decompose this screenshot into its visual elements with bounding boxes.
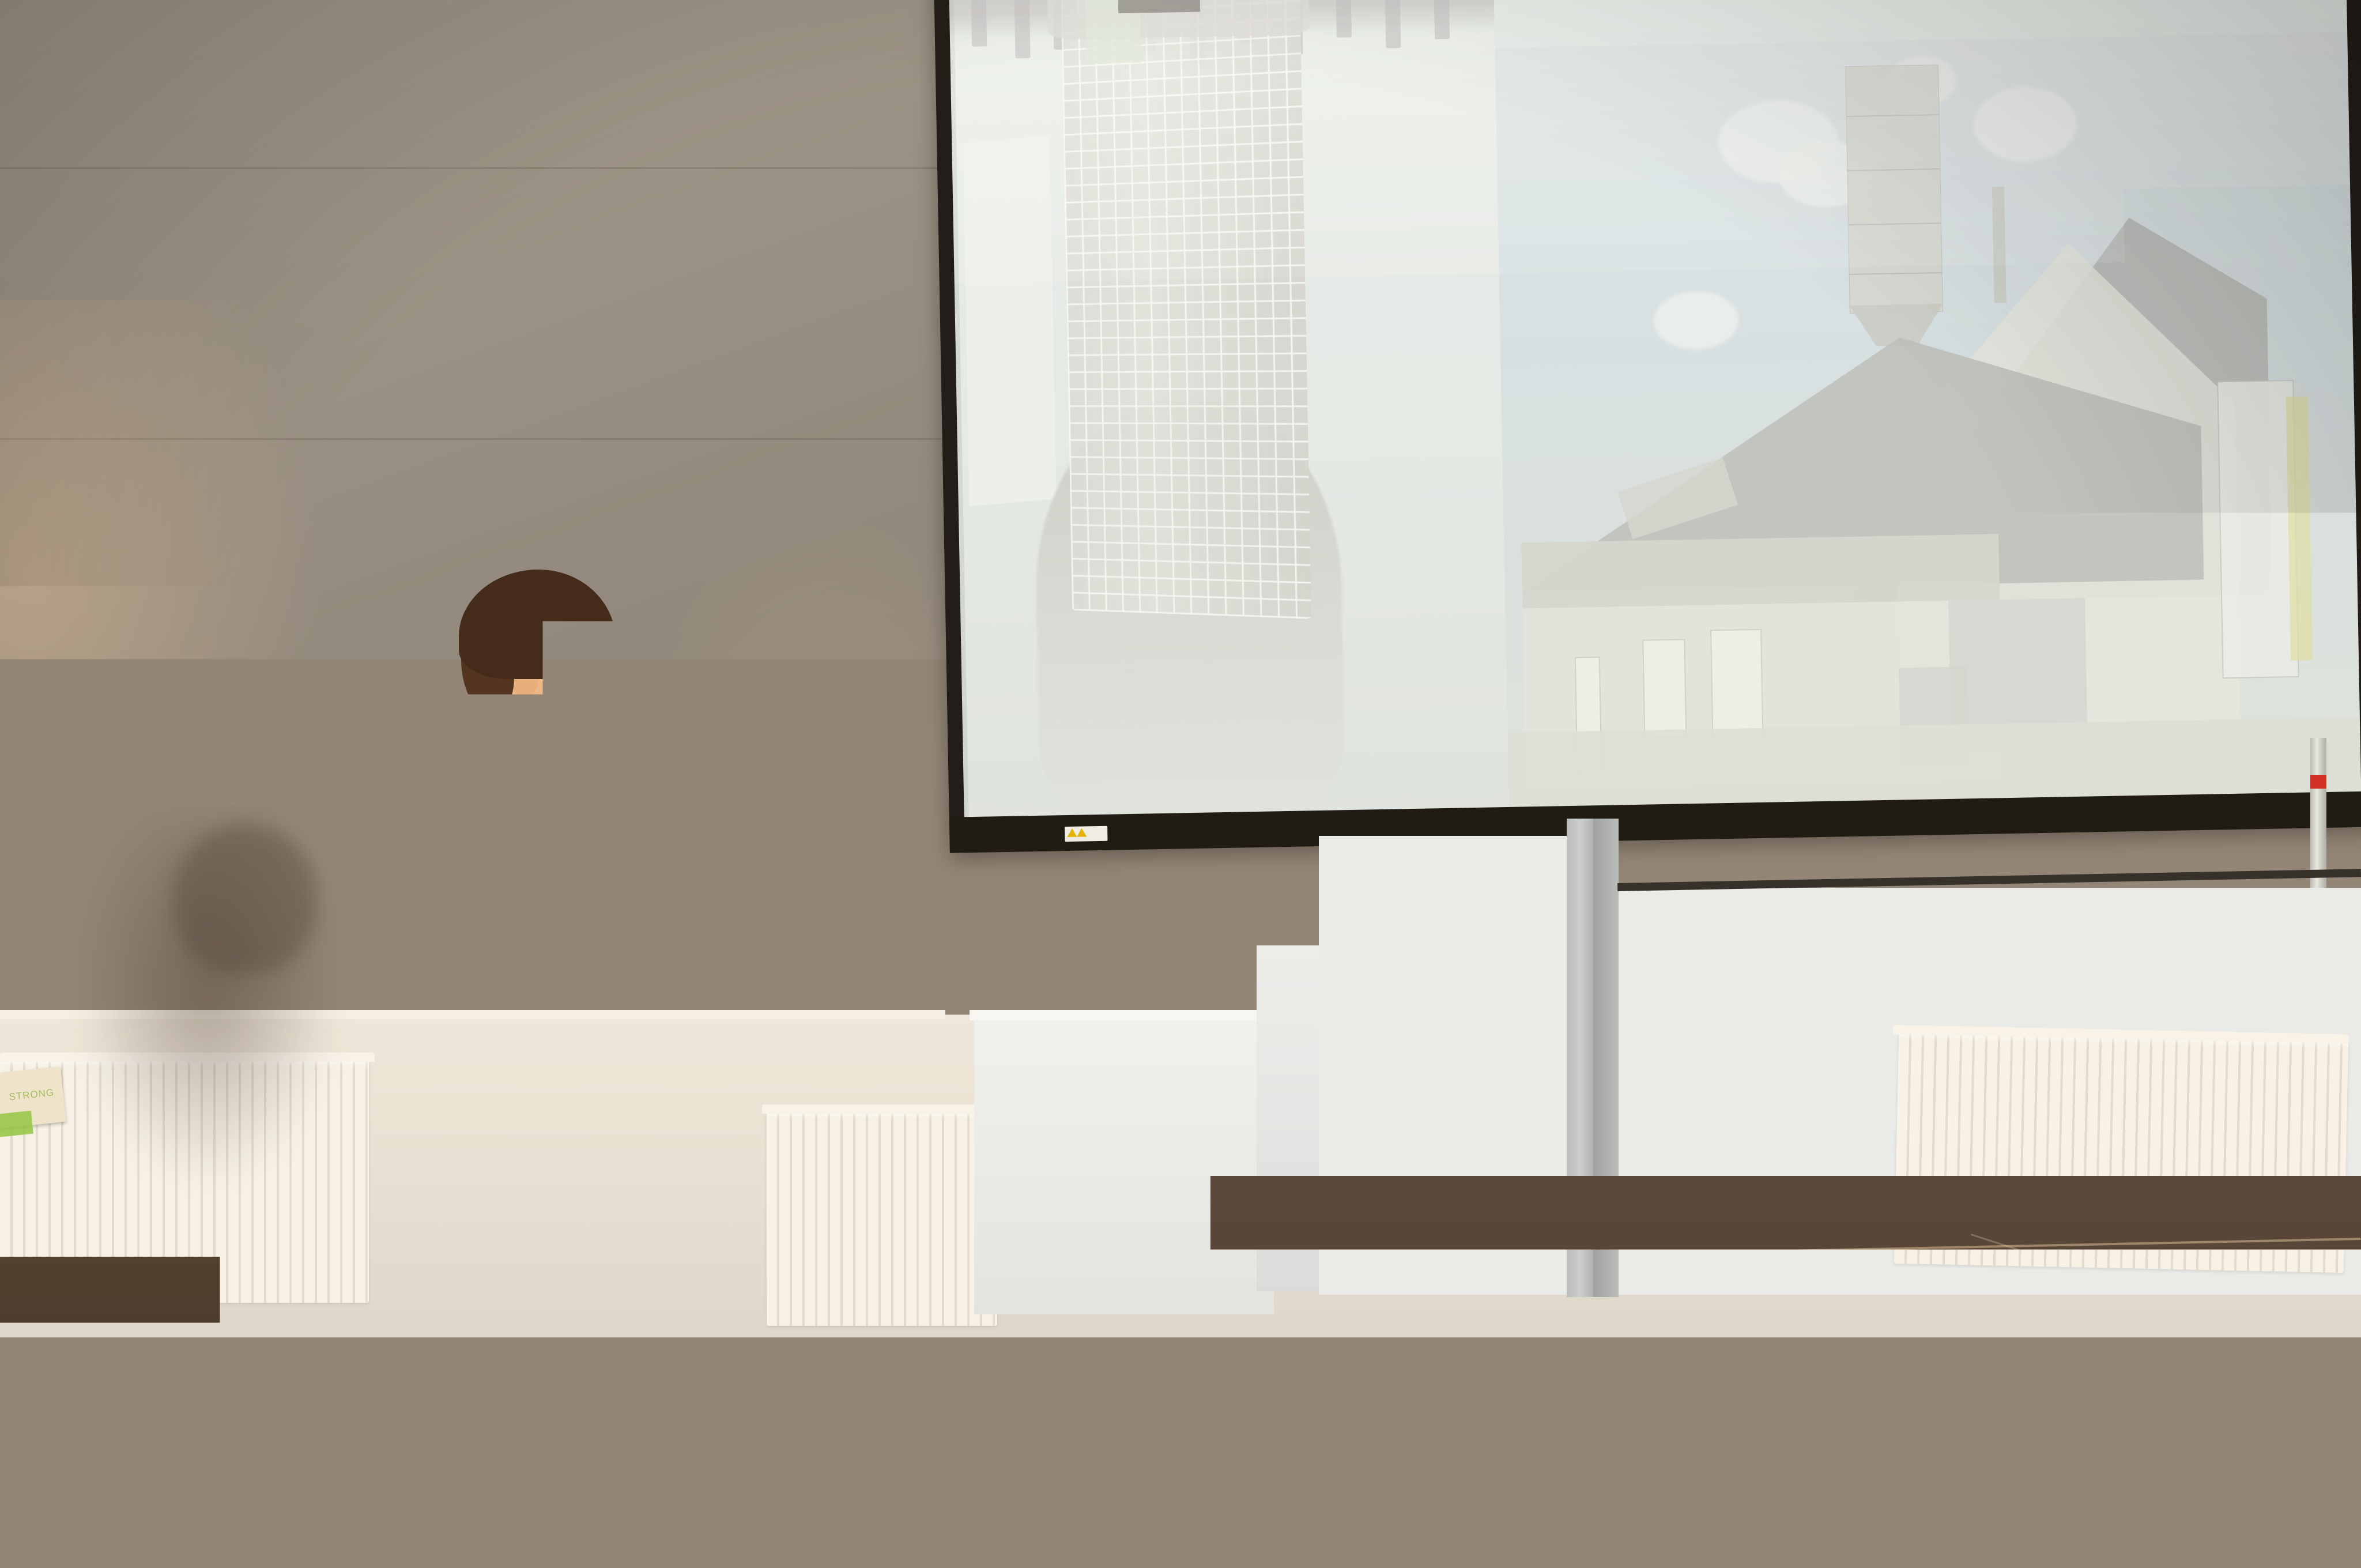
audience-member-1-shoulders: [438, 1556, 680, 1568]
stage-cabinet-lid: [970, 1010, 1281, 1020]
silo-mesh-cladding: [1061, 0, 1311, 619]
audience-member-4-head: [1514, 1448, 1650, 1568]
projection-screen: [934, 0, 2361, 853]
audience-member-4-shoulders: [1479, 1551, 1687, 1568]
slide-panel-left: [949, 0, 1508, 817]
gable-accent-strip: [2285, 396, 2313, 661]
chimney: [1992, 187, 2006, 303]
screen-surface: [949, 0, 2361, 817]
audience-member-2-shoulders: [775, 1560, 982, 1568]
speaker-nose: [594, 677, 618, 702]
snow-tree-11: [1434, 0, 1450, 39]
snow-tree-2: [1014, 0, 1031, 58]
cardboard-box-green-band: [0, 1111, 33, 1138]
snow-tree-1: [971, 0, 987, 47]
snow-tree-9: [1336, 0, 1352, 37]
snow-tree-10: [1385, 0, 1401, 48]
screen-frame: [934, 0, 2361, 853]
speaker-head-shadow: [173, 824, 317, 974]
speaker-hair: [459, 570, 616, 679]
floor-cable-2: [98, 1476, 219, 1545]
audience-member-3-head: [1187, 1419, 1332, 1552]
lectern-front-bevel: [370, 987, 644, 1563]
roof-silo-tower: [1845, 65, 1943, 314]
stand-band-green: [897, 847, 914, 862]
sky-band: [1494, 0, 2347, 48]
facade-window-2: [1710, 629, 1763, 737]
presentation-scene: STRONG: [0, 0, 2361, 1568]
speaker-chin: [558, 721, 609, 755]
facade-window-1: [1642, 639, 1687, 738]
cloud-3: [1973, 86, 2077, 163]
cardboard-box-label: STRONG: [9, 1087, 55, 1103]
lectern: [357, 957, 726, 1568]
slide-panel-right: [1494, 0, 2361, 807]
curtain-seam-upper: [0, 167, 945, 169]
screen-brand-logo: [1065, 826, 1107, 842]
radiator-center-top: [762, 1105, 1002, 1114]
cloud-4: [1653, 291, 1740, 350]
facade-eave-shadow: [1521, 534, 2000, 609]
stand-band-red: [2310, 775, 2326, 789]
slide-left-edge: [949, 0, 968, 817]
audience-member-3-shoulders: [1145, 1536, 1381, 1568]
silo-dark-hopper: [1117, 0, 1200, 13]
snow-light-patch: [963, 135, 1057, 506]
